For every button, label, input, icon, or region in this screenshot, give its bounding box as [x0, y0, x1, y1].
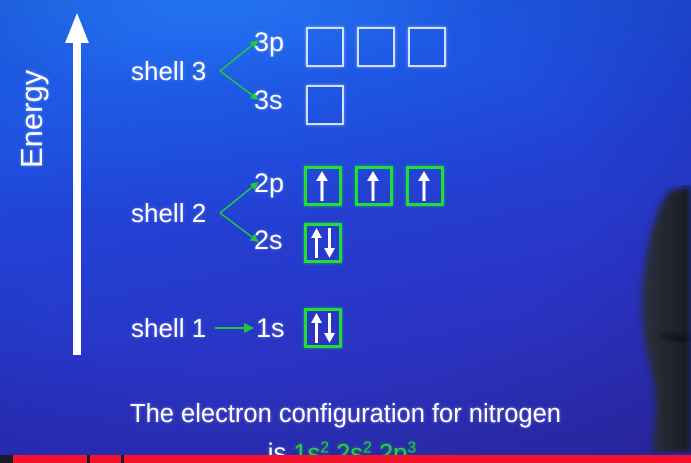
shell-label-3: shell 3 — [131, 56, 206, 87]
energy-axis-arrow — [64, 13, 90, 355]
caption-line-1: The electron configuration for nitrogen — [0, 398, 691, 431]
electron-arrows-2s-1 — [307, 226, 339, 260]
electron-arrows-2p-1 — [307, 169, 339, 203]
orbital-row-1s — [304, 308, 342, 348]
electron-arrows-2p-2 — [358, 169, 390, 203]
presenter-silhouette — [631, 185, 691, 453]
config-sup-1s: 2 — [320, 439, 329, 456]
orbital-box-2p-1[interactable] — [304, 166, 342, 206]
up-arrow-icon — [64, 13, 90, 355]
progress-segment[interactable] — [13, 455, 87, 463]
shell-label-2: shell 2 — [131, 198, 206, 229]
orbital-row-3p — [306, 27, 446, 67]
spin-up-arrow-icon — [367, 171, 379, 201]
spin-up-arrow-icon — [418, 171, 430, 201]
progress-segment[interactable] — [124, 455, 691, 463]
config-sup-2p: 3 — [407, 439, 416, 456]
orbital-box-3s-1[interactable] — [306, 85, 344, 125]
shell-label-1: shell 1 — [131, 313, 206, 344]
orbital-box-2s-1[interactable] — [304, 223, 342, 263]
silhouette-shape — [631, 185, 691, 453]
orbital-box-3p-1[interactable] — [306, 27, 344, 67]
config-sup-2s: 2 — [363, 439, 372, 456]
slide-background-vignette — [0, 0, 691, 463]
orbital-row-2p — [304, 166, 444, 206]
subshell-label-3s: 3s — [254, 85, 283, 116]
orbital-box-3p-3[interactable] — [408, 27, 446, 67]
orbital-box-2p-2[interactable] — [355, 166, 393, 206]
orbital-box-3p-2[interactable] — [357, 27, 395, 67]
caption-block: The electron configuration for nitrogen … — [0, 398, 691, 463]
spin-up-arrow-icon — [311, 313, 322, 343]
electron-arrows-1s-1 — [307, 311, 339, 345]
video-progress-bar[interactable] — [0, 455, 691, 463]
subshell-label-2p: 2p — [254, 168, 284, 199]
shell-1-straight-connector — [213, 318, 257, 338]
orbital-row-3s — [306, 85, 344, 125]
spin-up-arrow-icon — [311, 228, 322, 258]
subshell-label-1s: 1s — [256, 313, 285, 344]
spin-down-arrow-icon — [324, 228, 335, 258]
orbital-box-2p-3[interactable] — [406, 166, 444, 206]
progress-segment[interactable] — [90, 455, 121, 463]
subshell-label-2s: 2s — [254, 225, 283, 256]
electron-arrows-2p-3 — [409, 169, 441, 203]
energy-axis-label: Energy — [14, 0, 50, 168]
subshell-label-3p: 3p — [254, 27, 284, 58]
spin-down-arrow-icon — [324, 313, 335, 343]
orbital-row-2s — [304, 223, 342, 263]
video-slide-frame: Energy shell 3 3p 3s shell 2 2p — [0, 0, 691, 463]
spin-up-arrow-icon — [316, 171, 328, 201]
orbital-box-1s-1[interactable] — [304, 308, 342, 348]
